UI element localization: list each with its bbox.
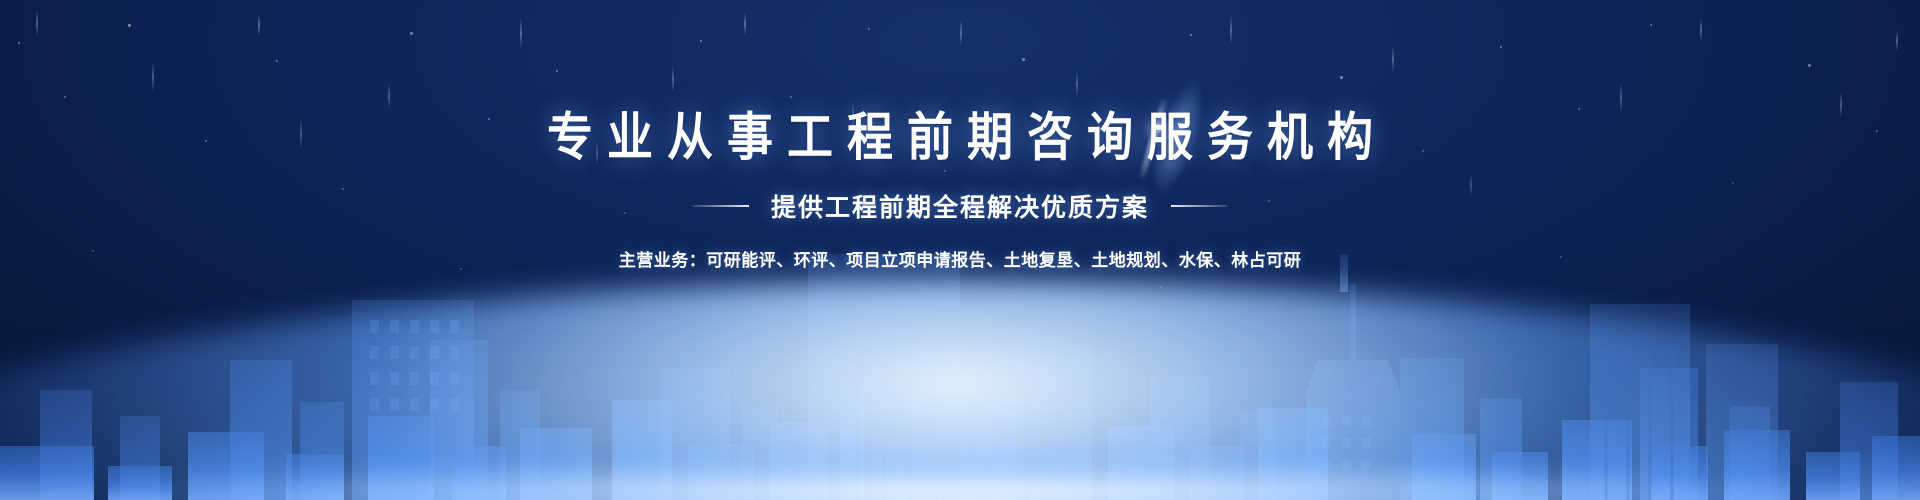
decorative-dash-left-icon <box>693 205 749 207</box>
banner-sub-title: 提供工程前期全程解决优质方案 <box>771 188 1149 224</box>
banner-subtitle-row: 提供工程前期全程解决优质方案 <box>693 188 1227 224</box>
decorative-dash-right-icon <box>1171 205 1227 207</box>
banner-content: 专业从事工程前期咨询服务机构 提供工程前期全程解决优质方案 主营业务：可研能评、… <box>0 0 1920 500</box>
hero-banner: 专业从事工程前期咨询服务机构 提供工程前期全程解决优质方案 主营业务：可研能评、… <box>0 0 1920 500</box>
banner-main-title: 专业从事工程前期咨询服务机构 <box>533 105 1387 170</box>
banner-business-line: 主营业务：可研能评、环评、项目立项申请报告、土地复垦、土地规划、水保、林占可研 <box>619 246 1302 271</box>
